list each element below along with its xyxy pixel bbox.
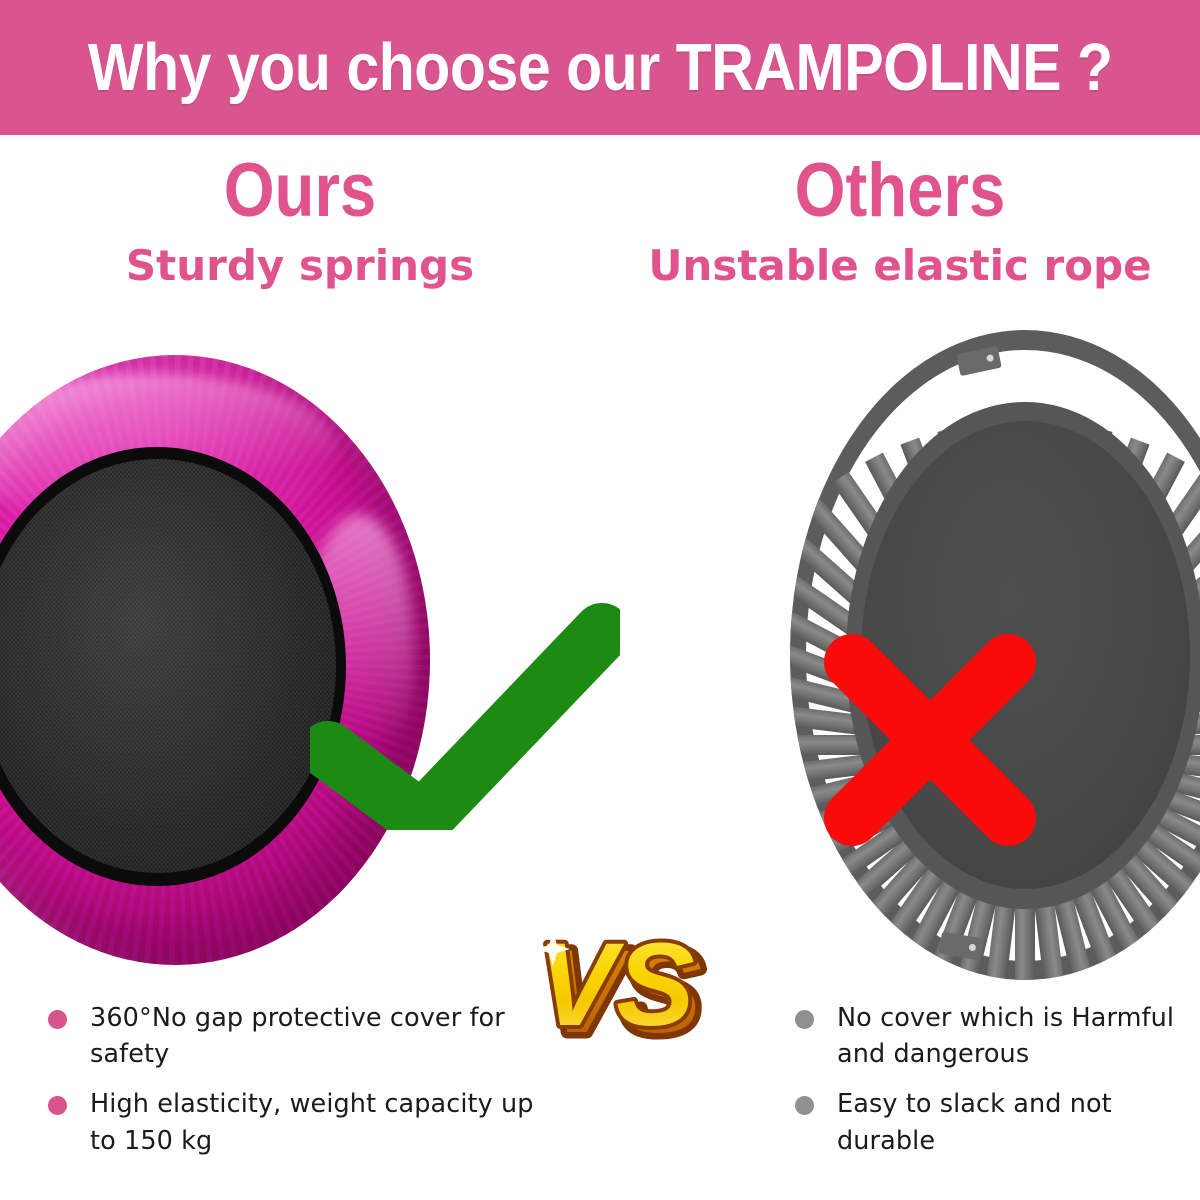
cross-icon <box>822 632 1038 848</box>
comparison-headings: Ours Sturdy springs Others Unstable elas… <box>0 135 1200 315</box>
header-banner: Why you choose our TRAMPOLINE ? <box>0 0 1200 135</box>
others-subtitle: Unstable elastic rope <box>600 245 1200 287</box>
vs-label: VS <box>537 919 694 1051</box>
bullet-dot-icon <box>48 1010 67 1029</box>
list-item: Easy to slack and not durable <box>795 1086 1175 1158</box>
bullet-dot-icon <box>795 1096 814 1115</box>
list-item: No cover which is Harmful and dangerous <box>795 1000 1175 1072</box>
others-feature-text: Easy to slack and not durable <box>837 1086 1175 1158</box>
ours-feature-text: 360°No gap protective cover for safety <box>90 1000 548 1072</box>
list-item: High elasticity, weight capacity up to 1… <box>48 1086 548 1158</box>
others-feature-text: No cover which is Harmful and dangerous <box>837 1000 1175 1072</box>
others-title: Others <box>642 153 1158 229</box>
ours-feature-text: High elasticity, weight capacity up to 1… <box>90 1086 548 1158</box>
ours-title: Ours <box>42 153 558 229</box>
column-heading-ours: Ours Sturdy springs <box>0 135 600 287</box>
product-comparison-stage: VS VS VS VS <box>0 300 1200 1000</box>
check-icon <box>310 600 620 830</box>
list-item: 360°No gap protective cover for safety <box>48 1000 548 1072</box>
ours-feature-list: 360°No gap protective cover for safety H… <box>48 1000 548 1173</box>
column-heading-others: Others Unstable elastic rope <box>600 135 1200 287</box>
bullet-dot-icon <box>795 1010 814 1029</box>
page-title: Why you choose our TRAMPOLINE ? <box>88 34 1113 101</box>
bullet-dot-icon <box>48 1096 67 1115</box>
others-feature-list: No cover which is Harmful and dangerous … <box>795 1000 1175 1173</box>
ours-subtitle: Sturdy springs <box>0 245 600 287</box>
